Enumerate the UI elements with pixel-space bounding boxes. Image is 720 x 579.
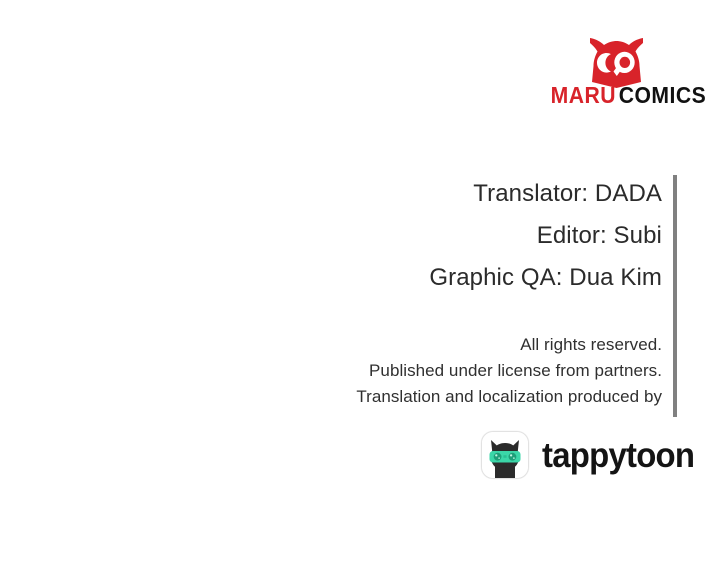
staff-credits: Translator: DADA Editor: Subi Graphic QA…: [242, 173, 662, 299]
rights-notice: All rights reserved. Published under lic…: [182, 332, 662, 410]
credit-line-graphic-qa: Graphic QA: Dua Kim: [242, 257, 662, 299]
cat-with-glasses-icon: [481, 431, 529, 479]
rights-line-translation: Translation and localization produced by: [182, 384, 662, 410]
rights-line-license: Published under license from partners.: [182, 358, 662, 384]
rights-line-all-rights: All rights reserved.: [182, 332, 662, 358]
owl-head-icon: [583, 36, 649, 88]
wordmark-comics: COMICS: [619, 82, 706, 108]
tappytoon-wordmark: tappytoon: [542, 438, 694, 473]
maru-comics-logo: MARUCOMICS: [545, 36, 687, 114]
credit-line-translator: Translator: DADA: [242, 173, 662, 215]
credit-line-editor: Editor: Subi: [242, 215, 662, 257]
wordmark-maru: MARU: [551, 82, 616, 108]
maru-comics-wordmark: MARUCOMICS: [551, 84, 682, 107]
tappytoon-logo: tappytoon: [481, 430, 704, 480]
vertical-divider: [673, 175, 677, 417]
credits-page: MARUCOMICS Translator: DADA Editor: Subi…: [0, 0, 720, 579]
